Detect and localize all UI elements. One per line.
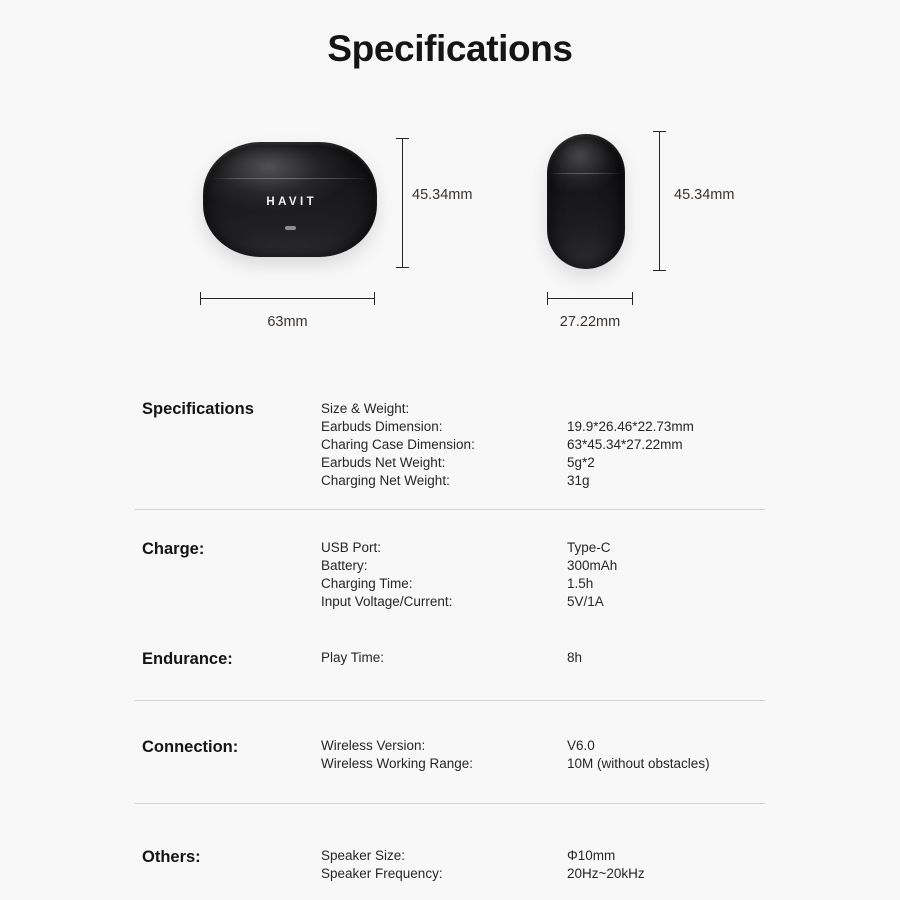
spec-row: Wireless Version: V6.0 — [321, 737, 765, 755]
spec-rows: Wireless Version: V6.0 Wireless Working … — [321, 737, 765, 773]
spec-value: Φ10mm — [567, 847, 615, 865]
spec-key: Input Voltage/Current: — [321, 593, 452, 611]
dimension-cap-top — [653, 131, 666, 132]
section-title: Connection: — [142, 738, 238, 757]
spec-key: Earbuds Dimension: — [321, 418, 443, 436]
spec-row: Input Voltage/Current: 5V/1A — [321, 593, 765, 611]
section-divider — [135, 509, 765, 510]
spec-key: Battery: — [321, 557, 368, 575]
dimension-cap-right — [632, 292, 633, 305]
spec-key: Speaker Frequency: — [321, 865, 443, 883]
spec-value: 20Hz~20kHz — [567, 865, 645, 883]
dimension-shaft — [200, 298, 375, 299]
front-width-dimension-line — [200, 292, 375, 305]
front-height-dimension-line — [396, 138, 409, 268]
spec-key: Wireless Version: — [321, 737, 425, 755]
page-title: Specifications — [0, 28, 900, 70]
dimension-cap-bottom — [396, 267, 409, 268]
spec-section-endurance: Endurance: Play Time: 8h — [135, 649, 765, 667]
led-indicator-icon — [285, 226, 296, 230]
side-width-dimension-line — [547, 292, 633, 305]
specifications-page: Specifications HAVIT 45.34mm 63mm 45.3 — [0, 0, 900, 900]
spec-value: 8h — [567, 649, 582, 667]
spec-row: Charging Time: 1.5h — [321, 575, 765, 593]
spec-value: 300mAh — [567, 557, 617, 575]
dimension-cap-top — [396, 138, 409, 139]
spec-rows: Speaker Size: Φ10mm Speaker Frequency: 2… — [321, 847, 765, 883]
spec-value: 19.9*26.46*22.73mm — [567, 418, 694, 436]
spec-section-connection: Connection: Wireless Version: V6.0 Wirel… — [135, 737, 765, 773]
product-gallery: HAVIT — [0, 120, 900, 345]
charging-case-front-image: HAVIT — [203, 142, 377, 257]
spec-rows: Size & Weight: Earbuds Dimension: 19.9*2… — [321, 400, 765, 490]
spec-row: USB Port: Type-C — [321, 539, 765, 557]
spec-key: Speaker Size: — [321, 847, 405, 865]
dimension-shaft — [659, 131, 660, 271]
section-divider — [135, 700, 765, 701]
dimension-cap-left — [547, 292, 548, 305]
section-title: Others: — [142, 848, 201, 867]
spec-section-charge: Charge: USB Port: Type-C Battery: 300mAh… — [135, 539, 765, 611]
spec-row: Earbuds Dimension: 19.9*26.46*22.73mm — [321, 418, 765, 436]
section-title: Specifications — [142, 400, 254, 419]
spec-section-specifications: Specifications Size & Weight: Earbuds Di… — [135, 400, 765, 490]
spec-key: Size & Weight: — [321, 400, 409, 418]
spec-section-others: Others: Speaker Size: Φ10mm Speaker Freq… — [135, 847, 765, 883]
spec-row: Charging Net Weight: 31g — [321, 472, 765, 490]
product-side-view — [525, 120, 770, 345]
spec-value: 5V/1A — [567, 593, 604, 611]
spec-row: Charing Case Dimension: 63*45.34*27.22mm — [321, 436, 765, 454]
spec-value: 31g — [567, 472, 590, 490]
spec-row: Size & Weight: — [321, 400, 765, 418]
spec-row: Speaker Frequency: 20Hz~20kHz — [321, 865, 765, 883]
spec-value: 63*45.34*27.22mm — [567, 436, 683, 454]
spec-key: USB Port: — [321, 539, 381, 557]
spec-value: 1.5h — [567, 575, 593, 593]
side-height-dimension-label: 45.34mm — [674, 187, 734, 203]
havit-brand-logo: HAVIT — [203, 196, 377, 208]
front-width-dimension-label: 63mm — [200, 314, 375, 330]
front-height-dimension-label: 45.34mm — [412, 187, 472, 203]
dimension-cap-left — [200, 292, 201, 305]
spec-key: Earbuds Net Weight: — [321, 454, 445, 472]
spec-key: Wireless Working Range: — [321, 755, 473, 773]
side-width-dimension-label: 27.22mm — [532, 314, 648, 330]
section-divider — [135, 803, 765, 804]
section-title: Charge: — [142, 540, 204, 559]
spec-value: 10M (without obstacles) — [567, 755, 710, 773]
spec-value: Type-C — [567, 539, 611, 557]
spec-row: Play Time: 8h — [321, 649, 765, 667]
spec-row: Wireless Working Range: 10M (without obs… — [321, 755, 765, 773]
dimension-shaft — [547, 298, 633, 299]
charging-case-side-image — [547, 134, 625, 269]
dimension-cap-bottom — [653, 270, 666, 271]
side-height-dimension-line — [653, 131, 666, 271]
spec-key: Play Time: — [321, 649, 384, 667]
spec-row: Speaker Size: Φ10mm — [321, 847, 765, 865]
spec-rows: USB Port: Type-C Battery: 300mAh Chargin… — [321, 539, 765, 611]
spec-key: Charing Case Dimension: — [321, 436, 475, 454]
dimension-cap-right — [374, 292, 375, 305]
spec-value: V6.0 — [567, 737, 595, 755]
spec-row: Earbuds Net Weight: 5g*2 — [321, 454, 765, 472]
spec-row: Battery: 300mAh — [321, 557, 765, 575]
product-front-view: HAVIT — [185, 120, 415, 345]
section-title: Endurance: — [142, 650, 233, 669]
spec-value: 5g*2 — [567, 454, 595, 472]
spec-rows: Play Time: 8h — [321, 649, 765, 667]
spec-key: Charging Net Weight: — [321, 472, 450, 490]
spec-key: Charging Time: — [321, 575, 413, 593]
dimension-shaft — [402, 138, 403, 268]
